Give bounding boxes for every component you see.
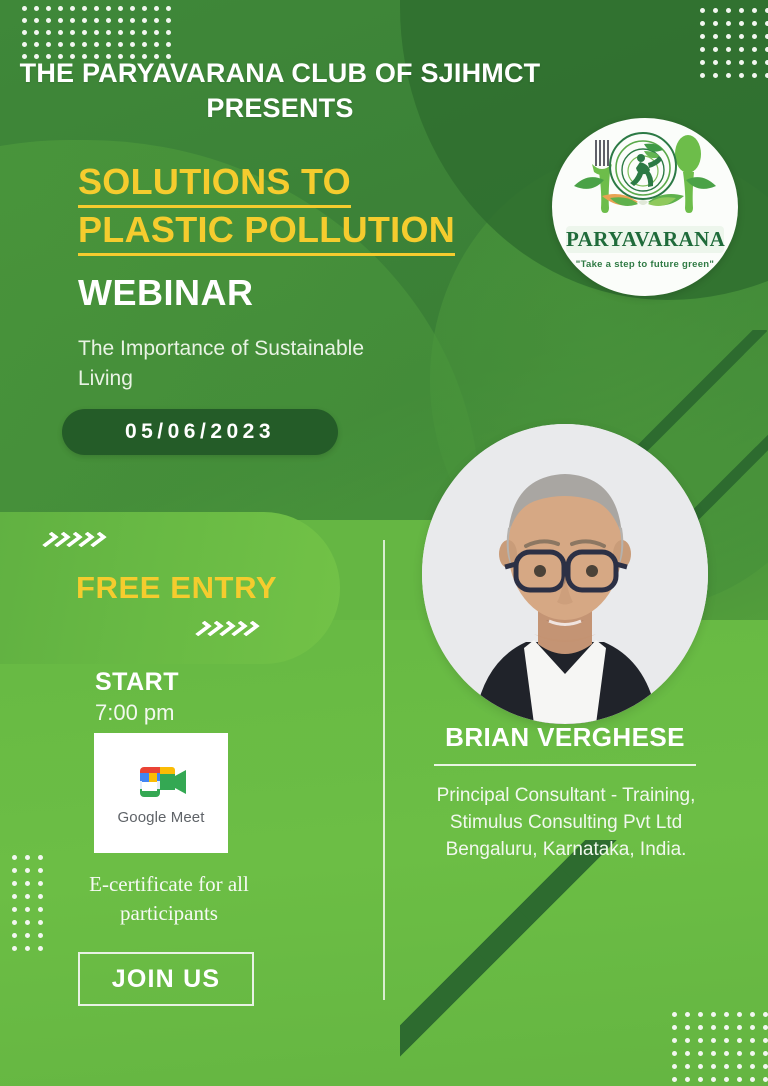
- google-meet-card[interactable]: Google Meet: [94, 733, 228, 853]
- logo-emblem-icon: [552, 118, 738, 230]
- webinar-poster: THE PARYAVARANA CLUB OF SJIHMCT PRESENTS…: [0, 0, 768, 1086]
- fork-icon: [592, 140, 612, 213]
- spoon-icon: [675, 135, 701, 213]
- speaker-portrait-icon: [422, 424, 708, 724]
- side-leaf-icon: [574, 177, 716, 189]
- paryavarana-logo: PARYAVARANA "Take a step to future green…: [552, 118, 738, 296]
- speaker-name: BRIAN VERGHESE: [400, 722, 730, 753]
- certificate-note: E-certificate for all participants: [44, 870, 294, 929]
- page-title: SOLUTIONS TO PLASTIC POLLUTION: [78, 160, 548, 256]
- google-meet-label: Google Meet: [118, 809, 205, 826]
- free-entry-label: FREE ENTRY: [76, 570, 277, 606]
- presenter-line: THE PARYAVARANA CLUB OF SJIHMCT PRESENTS: [0, 56, 560, 125]
- hands-icon: [602, 194, 684, 206]
- logo-tagline: "Take a step to future green": [560, 259, 730, 270]
- start-time: 7:00 pm: [95, 700, 175, 726]
- vertical-divider: [383, 540, 385, 1000]
- start-label: START: [95, 668, 179, 697]
- logo-name: PARYAVARANA: [566, 226, 724, 253]
- join-us-button[interactable]: JOIN US: [78, 952, 254, 1006]
- google-meet-icon: [134, 761, 188, 803]
- title-line-1: SOLUTIONS TO: [78, 160, 351, 208]
- chevron-group-bottom: [197, 620, 254, 637]
- title-line-2: PLASTIC POLLUTION: [78, 208, 455, 256]
- speaker-bio: Principal Consultant - Training, Stimulu…: [410, 783, 722, 864]
- speaker-photo: [422, 424, 708, 724]
- event-type-label: WEBINAR: [78, 272, 253, 314]
- speaker-divider: [434, 764, 696, 766]
- event-subtitle: The Importance of Sustainable Living: [78, 334, 378, 394]
- date-badge: 05/06/2023: [62, 409, 338, 455]
- chevron-group-top: [44, 531, 101, 548]
